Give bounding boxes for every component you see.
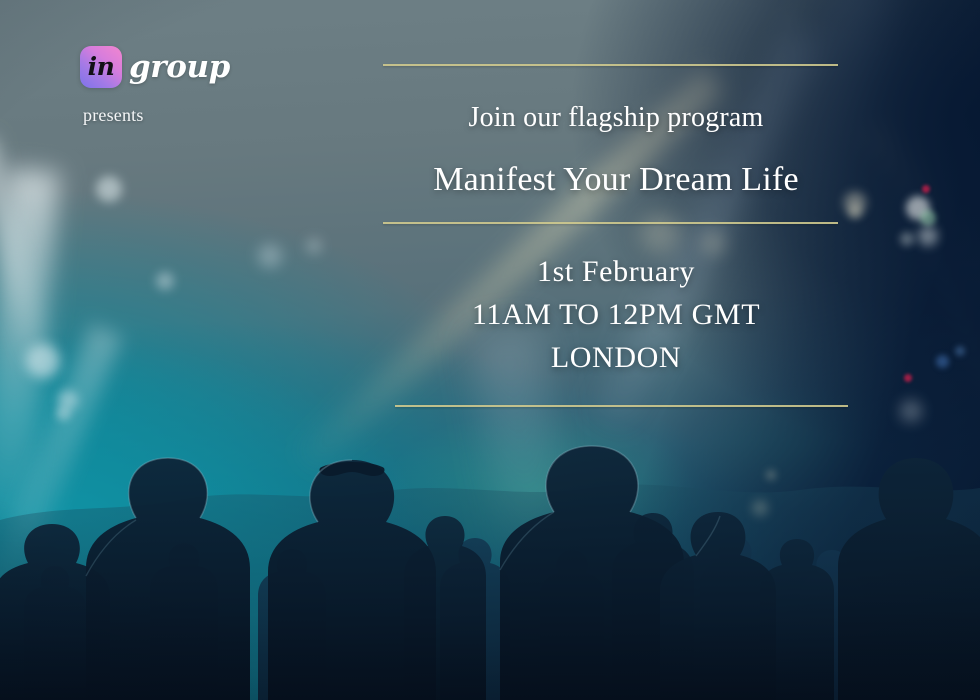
event-title: Manifest Your Dream Life — [383, 160, 849, 201]
brand-lockup[interactable]: in group — [80, 46, 230, 88]
brand-wordmark: group — [129, 52, 230, 83]
divider-top — [383, 64, 838, 66]
headline-block: Join our flagship program Manifest Your … — [383, 66, 849, 222]
divider-bottom — [395, 405, 848, 407]
event-location: LONDON — [383, 337, 849, 380]
event-panel: Join our flagship program Manifest Your … — [383, 64, 849, 407]
divider-middle — [383, 222, 838, 224]
event-date: 1st February — [383, 251, 849, 294]
event-eyebrow: Join our flagship program — [383, 101, 849, 135]
banner-content: in group presents Join our flagship prog… — [0, 0, 980, 700]
presents-label: presents — [83, 105, 230, 126]
event-details: 1st February 11AM TO 12PM GMT LONDON — [383, 224, 849, 405]
brand-block: in group presents — [80, 46, 230, 126]
ingroup-logo-icon: in — [80, 46, 122, 88]
event-promo-banner: in group presents Join our flagship prog… — [0, 0, 980, 700]
logo-mark-text: in — [88, 54, 115, 79]
event-time: 11AM TO 12PM GMT — [383, 294, 849, 337]
